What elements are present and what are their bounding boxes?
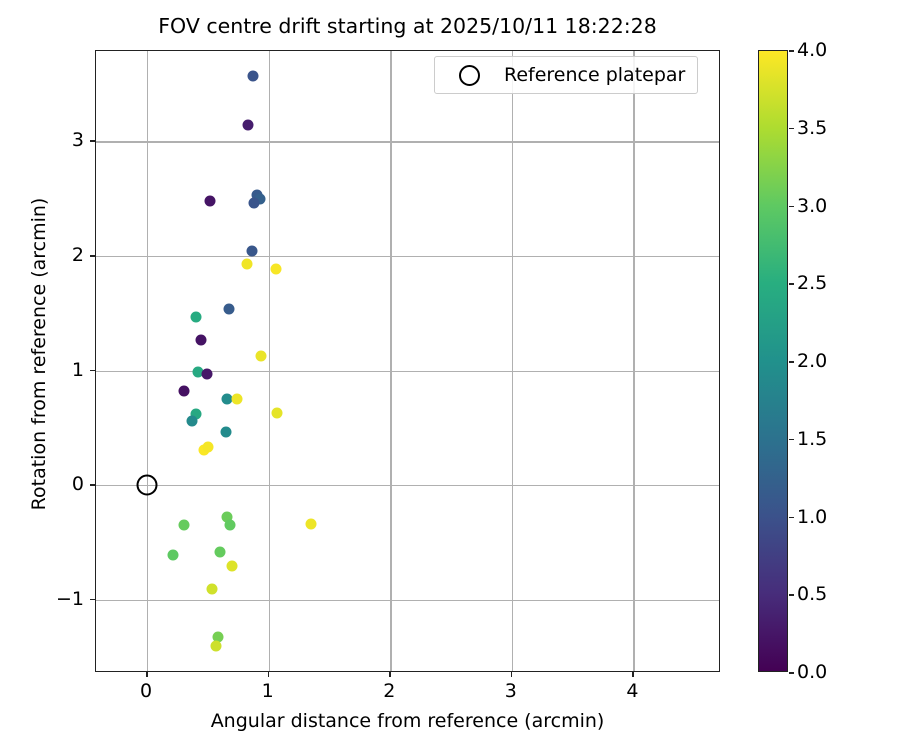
scatter-point (241, 259, 252, 270)
x-axis-tick-label: 2 (383, 680, 395, 702)
y-axis-tick (90, 370, 95, 372)
x-axis-tick-label: 0 (140, 680, 152, 702)
plot-area (95, 50, 720, 672)
scatter-point (211, 640, 222, 651)
page-title: FOV centre drift starting at 2025/10/11 … (95, 14, 720, 38)
scatter-point (178, 386, 189, 397)
colorbar-tick-label: 1.0 (797, 506, 827, 528)
scatter-point (232, 394, 243, 405)
scatter-point (201, 369, 212, 380)
colorbar-tick (789, 439, 794, 441)
scatter-point (227, 561, 238, 572)
x-axis-tick (632, 672, 634, 677)
scatter-point (272, 407, 283, 418)
scatter-point (223, 303, 234, 314)
scatter-point (167, 550, 178, 561)
colorbar-tick (789, 128, 794, 130)
y-axis-tick-label: 0 (72, 473, 84, 495)
legend[interactable]: Reference platepar (434, 56, 698, 94)
colorbar-tick (789, 283, 794, 285)
colorbar-tick-label: 2.0 (797, 350, 827, 372)
scatter-point (206, 584, 217, 595)
x-axis-tick-label: 3 (505, 680, 517, 702)
scatter-point (190, 311, 201, 322)
reference-platepar-point (137, 475, 158, 496)
y-axis-tick (90, 599, 95, 601)
colorbar-tick (789, 50, 794, 52)
scatter-point (270, 263, 281, 274)
scatter-point (242, 120, 253, 131)
y-axis-tick (90, 140, 95, 142)
scatter-point (202, 442, 213, 453)
y-axis-tick (90, 255, 95, 257)
y-axis-tick-label: 2 (72, 244, 84, 266)
scatter-point (221, 427, 232, 438)
x-axis-tick (389, 672, 391, 677)
y-axis-tick-label: 3 (72, 129, 84, 151)
colorbar-tick (789, 206, 794, 208)
colorbar (758, 50, 788, 672)
colorbar-tick-label: 3.5 (797, 117, 827, 139)
scatter-point (187, 415, 198, 426)
x-axis-tick (511, 672, 513, 677)
chart-figure: FOV centre drift starting at 2025/10/11 … (0, 0, 900, 750)
colorbar-tick-label: 0.5 (797, 583, 827, 605)
colorbar-tick-label: 1.5 (797, 428, 827, 450)
legend-item-label: Reference platepar (504, 64, 685, 86)
y-axis-tick (90, 484, 95, 486)
scatter-point (247, 71, 258, 82)
colorbar-tick-label: 0.0 (797, 661, 827, 683)
colorbar-tick (789, 517, 794, 519)
scatter-point (224, 520, 235, 531)
scatter-point (249, 198, 260, 209)
scatter-point (195, 334, 206, 345)
scatter-point (178, 520, 189, 531)
y-axis-label: Rotation from reference (arcmin) (28, 43, 50, 665)
scatter-points (96, 51, 719, 671)
x-axis-tick (268, 672, 270, 677)
x-axis-label: Angular distance from reference (arcmin) (95, 710, 720, 732)
colorbar-tick-label: 2.5 (797, 272, 827, 294)
scatter-point (256, 350, 267, 361)
colorbar-tick (789, 672, 794, 674)
x-axis-tick-label: 1 (262, 680, 274, 702)
colorbar-tick (789, 361, 794, 363)
colorbar-tick-label: 4.0 (797, 39, 827, 61)
scatter-point (205, 196, 216, 207)
colorbar-tick (789, 594, 794, 596)
colorbar-tick-label: 3.0 (797, 195, 827, 217)
scatter-point (215, 546, 226, 557)
scatter-point (246, 246, 257, 257)
scatter-point (306, 519, 317, 530)
x-axis-tick (146, 672, 148, 677)
y-axis-tick-label: −1 (56, 588, 84, 610)
x-axis-tick-label: 4 (626, 680, 638, 702)
y-axis-tick-label: 1 (72, 359, 84, 381)
reference-platepar-marker-icon (459, 65, 480, 86)
